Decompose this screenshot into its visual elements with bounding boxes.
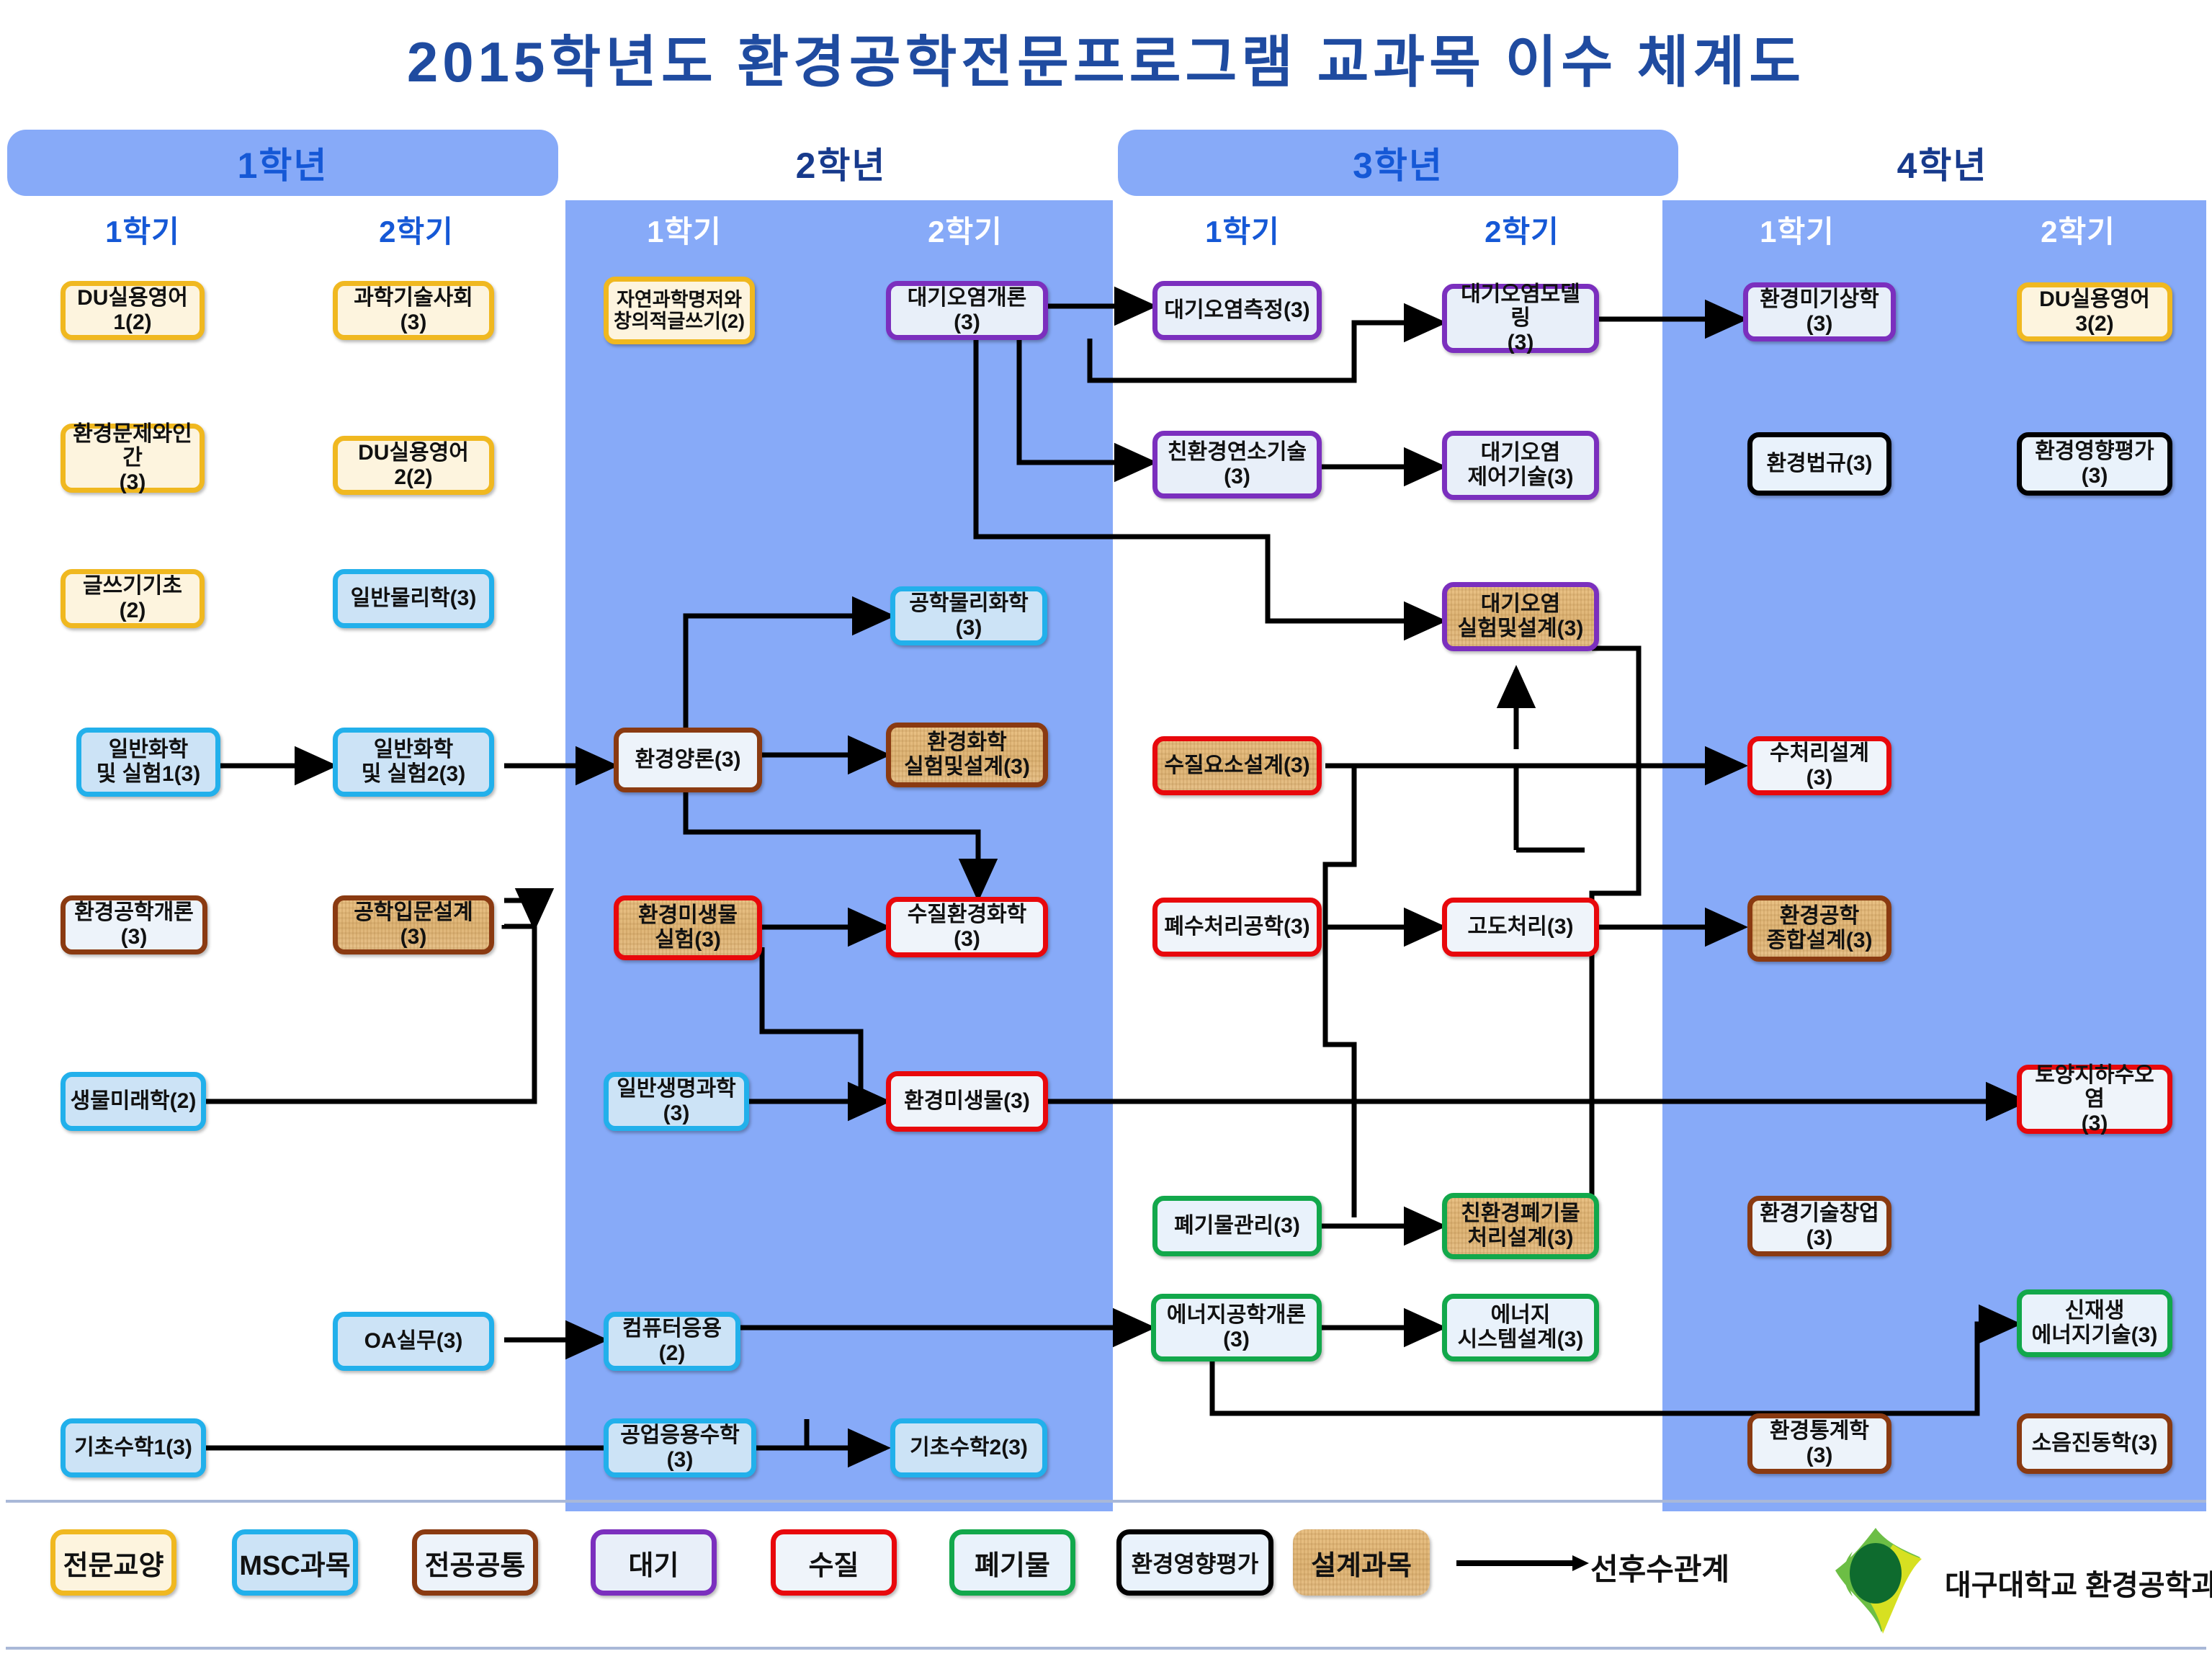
semester-label-text: 2학기 (2041, 215, 2115, 249)
course-box[interactable]: 대기오염모델링 (3) (1442, 284, 1599, 353)
course-label: 환경법규(3) (1766, 452, 1872, 476)
course-label: 일반생명과학(3) (613, 1077, 740, 1125)
course-label: 환경문제와인간 (3) (70, 422, 195, 495)
course-label: 소음진동학(3) (2032, 1431, 2158, 1456)
course-box[interactable]: 환경통계학(3) (1747, 1413, 1891, 1474)
course-label: 수질요소설계(3) (1164, 754, 1309, 778)
course-label: 대기오염 제어기술(3) (1467, 441, 1573, 489)
course-box[interactable]: 환경미생물(3) (886, 1071, 1048, 1132)
course-box[interactable]: 생물미래학(2) (61, 1072, 206, 1131)
course-label: 과학기술사회(3) (342, 286, 485, 334)
course-box[interactable]: 에너지공학개론 (3) (1151, 1294, 1322, 1361)
course-box[interactable]: 대기오염측정(3) (1152, 281, 1322, 340)
legend-item-design[interactable]: 설계과목 (1293, 1529, 1430, 1596)
course-label: 신재생 에너지기술(3) (2032, 1299, 2158, 1347)
legend-label: 폐기물 (975, 1543, 1050, 1583)
semester-label-text: 2학기 (1485, 215, 1559, 249)
course-box[interactable]: 자연과학명저와 창의적글쓰기(2) (604, 277, 755, 344)
course-label: 일반화학 및 실험2(3) (362, 738, 466, 786)
course-label: 고도처리(3) (1467, 915, 1573, 939)
course-label: 에너지 시스템설계(3) (1458, 1303, 1584, 1351)
legend-item-water[interactable]: 수질 (771, 1529, 897, 1596)
course-box[interactable]: 신재생 에너지기술(3) (2017, 1289, 2172, 1357)
course-label: 일반화학 및 실험1(3) (97, 738, 201, 786)
course-box[interactable]: 대기오염 실험및설계(3) (1442, 582, 1599, 651)
legend-item-eia[interactable]: 환경영향평가 (1116, 1529, 1273, 1596)
course-box[interactable]: 환경공학개론(3) (61, 895, 207, 954)
course-box[interactable]: 일반물리학(3) (333, 569, 494, 628)
page-title: 2015학년도 환경공학전문프로그램 교과목 이수 체계도 (0, 17, 2212, 98)
course-label: OA실무(3) (364, 1329, 463, 1354)
semester-label-text: 1학기 (1205, 215, 1280, 249)
legend-item-waste[interactable]: 폐기물 (949, 1529, 1075, 1596)
legend-item-liberal[interactable]: 전문교양 (50, 1529, 176, 1596)
semester-label-y1s1: 1학기 (35, 207, 251, 251)
legend-label: 전공공통 (425, 1543, 526, 1583)
year-header-4: 4학년 (1678, 130, 2206, 196)
course-box[interactable]: 공업응용수학(3) (604, 1418, 756, 1477)
course-label: 공학입문설계(3) (342, 900, 485, 949)
course-label: 환경공학 종합설계(3) (1766, 904, 1872, 952)
course-box[interactable]: 환경공학 종합설계(3) (1747, 895, 1891, 962)
course-label: 친환경폐기물 처리설계(3) (1461, 1202, 1580, 1250)
course-box[interactable]: 수질요소설계(3) (1152, 736, 1322, 795)
course-box[interactable]: 수질환경화학(3) (886, 897, 1048, 957)
course-label: 환경미생물 실험(3) (638, 903, 738, 952)
legend-arrow-text: 선후수관계 (1590, 1552, 1729, 1586)
course-label: 친환경연소기술 (3) (1168, 440, 1307, 488)
course-label: 환경양론(3) (635, 748, 740, 772)
course-label: 폐수처리공학(3) (1164, 915, 1309, 939)
footer-text: 대구대학교 환경공학과 (1945, 1570, 2212, 1601)
year-header-2-label: 2학년 (796, 137, 887, 189)
course-box[interactable]: 고도처리(3) (1442, 898, 1599, 957)
course-label: 대기오염측정(3) (1164, 298, 1309, 323)
course-label: 환경미생물(3) (904, 1089, 1030, 1114)
course-label: 기초수학2(3) (910, 1436, 1028, 1460)
course-label: DU실용영어3(2) (2026, 287, 2163, 336)
course-box[interactable]: 폐기물관리(3) (1152, 1196, 1322, 1256)
legend-item-msc[interactable]: MSC과목 (232, 1529, 358, 1596)
course-box[interactable]: 글쓰기기초(2) (61, 569, 205, 628)
course-label: 컴퓨터응용(2) (613, 1317, 731, 1365)
course-label: 대기오염 실험및설계(3) (1458, 592, 1584, 640)
course-label: 폐기물관리(3) (1174, 1214, 1300, 1238)
course-box[interactable]: 기초수학1(3) (61, 1418, 206, 1477)
year-header-3: 3학년 (1118, 130, 1678, 196)
course-label: 환경통계학(3) (1757, 1419, 1882, 1467)
course-box[interactable]: 환경미생물 실험(3) (614, 895, 762, 960)
course-label: 생물미래학(2) (71, 1089, 197, 1114)
semester-label-y1s2: 2학기 (308, 207, 524, 251)
course-label: 환경영향평가(3) (2026, 439, 2163, 488)
semester-label-y3s1: 1학기 (1134, 207, 1351, 251)
course-box[interactable]: DU실용영어2(2) (333, 436, 494, 495)
legend-label: MSC과목 (239, 1543, 350, 1583)
university-logo-icon (1831, 1526, 1925, 1635)
legend-arrow-label: 선후수관계 (1590, 1545, 1729, 1589)
course-label: 수처리설계(3) (1757, 741, 1882, 790)
course-label: 일반물리학(3) (351, 586, 477, 611)
legend-label: 수질 (809, 1543, 859, 1583)
course-box[interactable]: 공학물리화학(3) (890, 586, 1047, 645)
semester-label-text: 2학기 (928, 215, 1003, 249)
course-label: 대기오염모델링 (3) (1451, 282, 1590, 355)
semester-label-y2s1: 1학기 (576, 207, 792, 251)
course-label: 대기오염개론(3) (895, 286, 1039, 334)
course-box[interactable]: 환경미기상학(3) (1743, 282, 1896, 341)
course-label: 글쓰기기초(2) (70, 574, 195, 622)
legend-label: 전문교양 (63, 1543, 164, 1583)
course-label: 수질환경화학(3) (895, 903, 1039, 951)
course-box[interactable]: 친환경연소기술 (3) (1152, 431, 1322, 498)
course-label: 공학물리화학(3) (900, 591, 1038, 640)
course-box[interactable]: 일반화학 및 실험1(3) (76, 728, 220, 797)
semester-label-y4s2: 2학기 (1970, 207, 2186, 251)
footer-department-text: 대구대학교 환경공학과 (1945, 1562, 2212, 1604)
semester-label-text: 2학기 (379, 215, 454, 249)
course-box[interactable]: 일반생명과학(3) (604, 1072, 749, 1131)
course-label: 기초수학1(3) (74, 1436, 192, 1460)
legend-arrow-icon (1455, 1545, 1592, 1581)
course-box[interactable]: OA실무(3) (333, 1312, 494, 1371)
year-header-4-label: 4학년 (1897, 137, 1988, 189)
year-header-2: 2학년 (569, 130, 1113, 196)
course-box[interactable]: 대기오염 제어기술(3) (1442, 431, 1599, 500)
course-box[interactable]: 환경법규(3) (1747, 432, 1891, 496)
semester-label-text: 1학기 (105, 215, 180, 249)
course-box[interactable]: 소음진동학(3) (2017, 1413, 2172, 1474)
semester-label-text: 1학기 (647, 215, 722, 249)
semester-label-text: 1학기 (1760, 215, 1835, 249)
legend-label: 환경영향평가 (1132, 1546, 1259, 1579)
course-box[interactable]: 환경문제와인간 (3) (61, 424, 205, 493)
legend-divider-bottom (6, 1647, 2206, 1650)
course-label: DU실용영어2(2) (342, 441, 485, 489)
course-box[interactable]: 수처리설계(3) (1747, 736, 1891, 795)
year-header-1-label: 1학년 (238, 137, 328, 189)
course-box[interactable]: 공학입문설계(3) (333, 895, 494, 954)
course-label: 토양지하수오염 (3) (2026, 1063, 2163, 1136)
course-label: 환경공학개론(3) (70, 900, 198, 949)
course-label: 환경기술창업(3) (1757, 1202, 1882, 1250)
year-header-1: 1학년 (7, 130, 558, 196)
course-box[interactable]: 대기오염개론(3) (886, 281, 1048, 340)
course-box[interactable]: 환경양론(3) (614, 728, 762, 792)
legend-label: 대기 (629, 1543, 679, 1583)
legend-item-common[interactable]: 전공공통 (412, 1529, 538, 1596)
semester-label-y2s2: 2학기 (857, 207, 1073, 251)
legend-divider-top (6, 1500, 2206, 1503)
course-label: 환경미기상학(3) (1752, 287, 1886, 336)
course-label: 공업응용수학(3) (613, 1423, 747, 1472)
course-box[interactable]: 폐수처리공학(3) (1152, 898, 1322, 957)
course-box[interactable]: 환경화학 실험및설계(3) (886, 723, 1048, 787)
course-box[interactable]: 기초수학2(3) (890, 1418, 1047, 1477)
course-label: 에너지공학개론 (3) (1167, 1303, 1306, 1351)
course-box[interactable]: 과학기술사회(3) (333, 281, 494, 340)
course-label: 환경화학 실험및설계(3) (904, 730, 1030, 779)
course-box[interactable]: 토양지하수오염 (3) (2017, 1065, 2172, 1134)
course-box[interactable]: 컴퓨터응용(2) (604, 1312, 740, 1371)
legend-item-air[interactable]: 대기 (591, 1529, 717, 1596)
course-box[interactable]: 환경영향평가(3) (2017, 432, 2172, 496)
course-label: 자연과학명저와 창의적글쓰기(2) (614, 289, 745, 332)
course-box[interactable]: 일반화학 및 실험2(3) (333, 728, 494, 797)
course-box[interactable]: 에너지 시스템설계(3) (1442, 1294, 1599, 1361)
course-box[interactable]: 환경기술창업(3) (1747, 1196, 1891, 1256)
legend-label: 설계과목 (1311, 1543, 1412, 1583)
course-box[interactable]: 친환경폐기물 처리설계(3) (1442, 1193, 1599, 1259)
course-label: DU실용영어1(2) (70, 286, 195, 334)
semester-label-y3s2: 2학기 (1414, 207, 1630, 251)
year-header-3-label: 3학년 (1353, 137, 1443, 189)
course-box[interactable]: DU실용영어1(2) (61, 281, 205, 340)
semester-label-y4s1: 1학기 (1689, 207, 1905, 251)
course-box[interactable]: DU실용영어3(2) (2017, 282, 2172, 341)
